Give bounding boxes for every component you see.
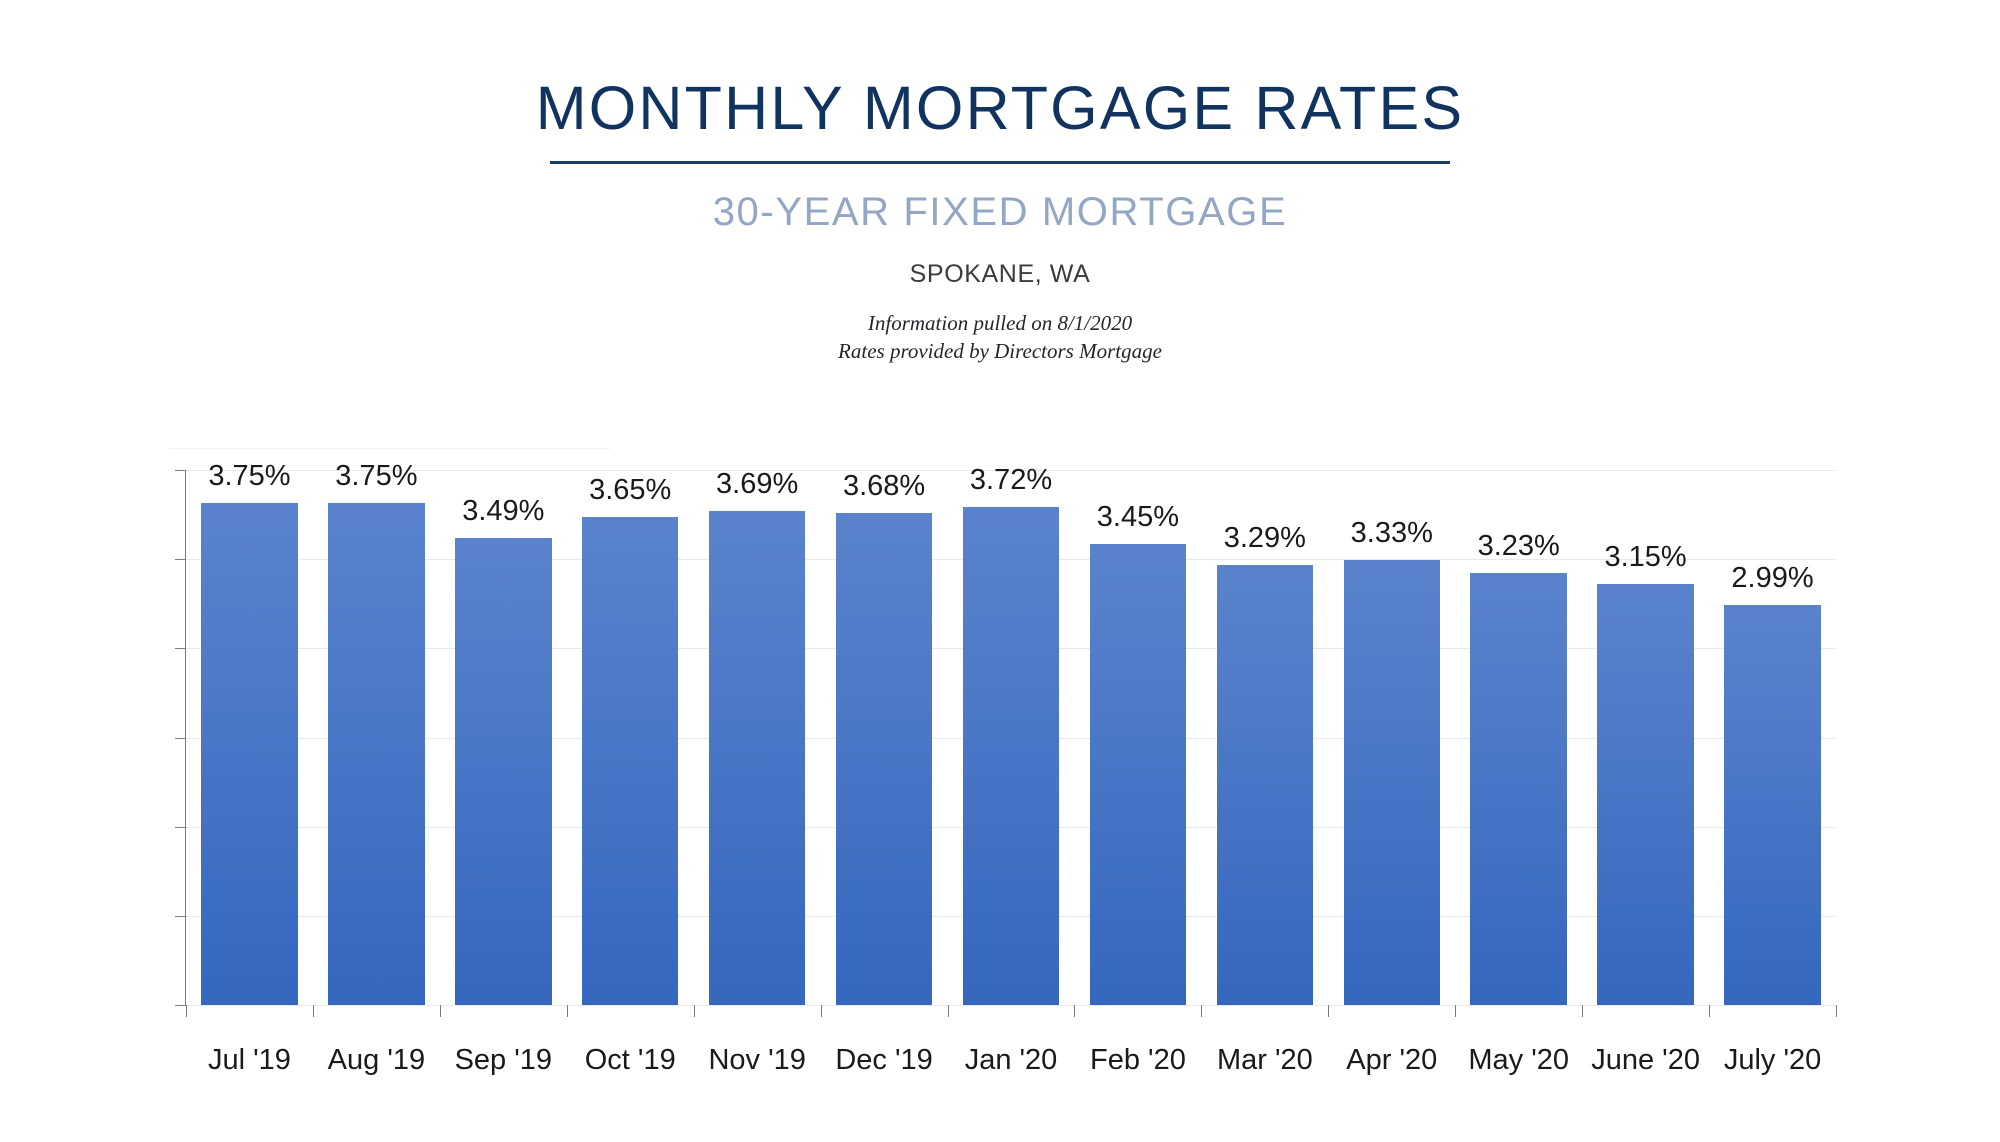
y-axis-tick	[175, 470, 186, 471]
x-axis-category-label: Feb '20	[1074, 1044, 1201, 1077]
note-date-pulled: Information pulled on 8/1/2020	[0, 309, 2000, 337]
bar[interactable]	[1217, 565, 1313, 1005]
x-axis-tick	[1836, 1005, 1837, 1017]
bar-value-label: 3.15%	[1582, 541, 1709, 574]
bar-value-label: 3.29%	[1201, 522, 1328, 555]
bar[interactable]	[1597, 584, 1693, 1005]
x-axis-tick	[821, 1005, 822, 1017]
x-axis-category-label: Aug '19	[313, 1044, 440, 1077]
bar-group[interactable]: 3.65%Oct '19	[567, 470, 694, 1005]
bar-value-label: 2.99%	[1709, 562, 1836, 595]
bar[interactable]	[582, 517, 678, 1005]
x-axis-category-label: June '20	[1582, 1044, 1709, 1077]
bar[interactable]	[963, 507, 1059, 1005]
bar-value-label: 3.75%	[186, 460, 313, 493]
x-axis-category-label: Jul '19	[186, 1044, 313, 1077]
y-axis-tick	[175, 1005, 186, 1006]
plot-area: 3.75%Jul '193.75%Aug '193.49%Sep '193.65…	[186, 470, 1836, 1005]
x-axis-tick	[1455, 1005, 1456, 1017]
page-subtitle: 30-YEAR FIXED MORTGAGE	[0, 192, 2000, 232]
bar[interactable]	[836, 513, 932, 1005]
bar-group[interactable]: 3.75%Aug '19	[313, 470, 440, 1005]
x-axis-tick	[1074, 1005, 1075, 1017]
x-axis-tick	[313, 1005, 314, 1017]
bar-value-label: 3.72%	[948, 464, 1075, 497]
bar[interactable]	[709, 511, 805, 1005]
bar-group[interactable]: 2.99%July '20	[1709, 470, 1836, 1005]
bar-series: 3.75%Jul '193.75%Aug '193.49%Sep '193.65…	[186, 470, 1836, 1005]
bar-value-label: 3.33%	[1328, 517, 1455, 550]
bar-group[interactable]: 3.23%May '20	[1455, 470, 1582, 1005]
decorative-hairline	[170, 448, 610, 449]
x-axis-tick	[186, 1005, 187, 1017]
bar-group[interactable]: 3.49%Sep '19	[440, 470, 567, 1005]
bar-group[interactable]: 3.33%Apr '20	[1328, 470, 1455, 1005]
bar[interactable]	[1724, 605, 1820, 1005]
bar[interactable]	[1344, 560, 1440, 1005]
gridline	[186, 1005, 1836, 1006]
x-axis-category-label: Jan '20	[948, 1044, 1075, 1077]
x-axis-category-label: July '20	[1709, 1044, 1836, 1077]
bar[interactable]	[455, 538, 551, 1005]
x-axis-category-label: Mar '20	[1201, 1044, 1328, 1077]
x-axis-tick	[440, 1005, 441, 1017]
title-divider	[550, 161, 1450, 164]
bar-value-label: 3.68%	[821, 470, 948, 503]
bar[interactable]	[1470, 573, 1566, 1005]
y-axis-tick	[175, 738, 186, 739]
x-axis-tick	[567, 1005, 568, 1017]
x-axis-tick	[1328, 1005, 1329, 1017]
y-axis-tick	[175, 559, 186, 560]
x-axis-tick	[1201, 1005, 1202, 1017]
bar-group[interactable]: 3.15%June '20	[1582, 470, 1709, 1005]
bar-group[interactable]: 3.45%Feb '20	[1074, 470, 1201, 1005]
bar-group[interactable]: 3.29%Mar '20	[1201, 470, 1328, 1005]
note-rate-source: Rates provided by Directors Mortgage	[0, 337, 2000, 365]
page-title: MONTHLY MORTGAGE RATES	[0, 78, 2000, 139]
bar[interactable]	[1090, 544, 1186, 1005]
bar-group[interactable]: 3.68%Dec '19	[821, 470, 948, 1005]
location-label: SPOKANE, WA	[0, 262, 2000, 287]
x-axis-tick	[694, 1005, 695, 1017]
x-axis-category-label: Sep '19	[440, 1044, 567, 1077]
x-axis-category-label: Apr '20	[1328, 1044, 1455, 1077]
bar-value-label: 3.75%	[313, 460, 440, 493]
bar[interactable]	[328, 503, 424, 1005]
bar-group[interactable]: 3.75%Jul '19	[186, 470, 313, 1005]
y-axis-tick	[175, 916, 186, 917]
x-axis-tick	[1709, 1005, 1710, 1017]
x-axis-category-label: May '20	[1455, 1044, 1582, 1077]
bar-value-label: 3.45%	[1074, 501, 1201, 534]
bar-chart: 3.75%Jul '193.75%Aug '193.49%Sep '193.65…	[0, 440, 2000, 1142]
bar-group[interactable]: 3.69%Nov '19	[694, 470, 821, 1005]
y-axis-tick	[175, 648, 186, 649]
x-axis-tick	[1582, 1005, 1583, 1017]
x-axis-tick	[948, 1005, 949, 1017]
bar-value-label: 3.69%	[694, 468, 821, 501]
x-axis-category-label: Nov '19	[694, 1044, 821, 1077]
bar-value-label: 3.65%	[567, 474, 694, 507]
bar-value-label: 3.49%	[440, 495, 567, 528]
bar[interactable]	[201, 503, 297, 1005]
page-header: MONTHLY MORTGAGE RATES 30-YEAR FIXED MOR…	[0, 0, 2000, 366]
x-axis-category-label: Oct '19	[567, 1044, 694, 1077]
bar-group[interactable]: 3.72%Jan '20	[948, 470, 1075, 1005]
y-axis-tick	[175, 827, 186, 828]
x-axis-category-label: Dec '19	[821, 1044, 948, 1077]
bar-value-label: 3.23%	[1455, 530, 1582, 563]
